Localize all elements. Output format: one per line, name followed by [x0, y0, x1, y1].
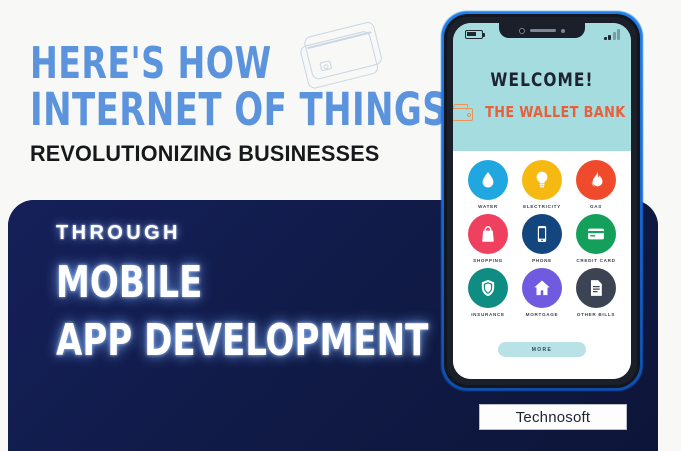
- app-tile-phone[interactable]: PHONE: [515, 214, 569, 263]
- signal-bars-icon: [604, 28, 621, 40]
- lightbulb-icon: [522, 160, 562, 200]
- speaker-grill-icon: [530, 29, 556, 32]
- phone-mockup: WELCOME! THE WALLET BANK WATERELECTRICIT…: [444, 14, 640, 388]
- app-tile-electricity[interactable]: ELECTRICITY: [515, 160, 569, 209]
- smartphone-icon: [522, 214, 562, 254]
- credit-card-icon: [576, 214, 616, 254]
- phone-notch: [499, 23, 585, 38]
- app-tile-label: CREDIT CARD: [576, 258, 615, 263]
- app-tile-label: GAS: [590, 204, 602, 209]
- app-tile-label: ELECTRICITY: [523, 204, 561, 209]
- shopping-bag-icon: [468, 214, 508, 254]
- app-tile-label: PHONE: [532, 258, 552, 263]
- panel-line-1: MOBILE: [56, 261, 434, 305]
- panel-line-2: APP DEVELOPMENT: [56, 319, 434, 363]
- headline-line-3: REVOLUTIONIZING BUSINESSES: [30, 141, 433, 167]
- app-tile-label: WATER: [478, 204, 498, 209]
- app-tile-gas[interactable]: GAS: [569, 160, 623, 209]
- banner-canvas: HERE'S HOW INTERNET OF THINGS IS REVOLUT…: [0, 0, 681, 451]
- app-header: WELCOME! THE WALLET BANK: [453, 23, 631, 151]
- app-tile-label: SHOPPING: [473, 258, 503, 263]
- app-tile-mortgage[interactable]: MORTGAGE: [515, 268, 569, 317]
- sensor-icon: [561, 29, 565, 33]
- wallet-icon: [453, 104, 474, 121]
- flame-icon: [576, 160, 616, 200]
- app-tile-grid: WATERELECTRICITYGASSHOPPINGPHONECREDIT C…: [453, 160, 631, 317]
- panel-text-block: THROUGH MOBILE APP DEVELOPMENT: [56, 222, 496, 363]
- bank-name: THE WALLET BANK: [485, 103, 625, 121]
- app-tile-label: INSURANCE: [471, 312, 505, 317]
- more-button[interactable]: MORE: [498, 342, 586, 357]
- app-tile-label: MORTGAGE: [526, 312, 559, 317]
- headline-block: HERE'S HOW INTERNET OF THINGS IS REVOLUT…: [30, 44, 450, 167]
- app-tile-credit-card[interactable]: CREDIT CARD: [569, 214, 623, 263]
- app-tile-label: OTHER BILLS: [577, 312, 615, 317]
- phone-body: WELCOME! THE WALLET BANK WATERELECTRICIT…: [444, 14, 640, 388]
- app-tile-water[interactable]: WATER: [461, 160, 515, 209]
- home-icon: [522, 268, 562, 308]
- phone-screen: WELCOME! THE WALLET BANK WATERELECTRICIT…: [453, 23, 631, 379]
- headline-line-2: INTERNET OF THINGS IS: [30, 89, 383, 130]
- welcome-title: WELCOME!: [462, 69, 622, 91]
- battery-icon: [465, 30, 483, 39]
- bank-brand: THE WALLET BANK: [453, 103, 631, 121]
- app-tile-insurance[interactable]: INSURANCE: [461, 268, 515, 317]
- panel-kicker: THROUGH: [56, 222, 496, 245]
- camera-icon: [519, 28, 525, 34]
- app-tile-shopping[interactable]: SHOPPING: [461, 214, 515, 263]
- headline-line-1: HERE'S HOW: [30, 44, 383, 84]
- water-drop-icon: [468, 160, 508, 200]
- app-tile-other-bills[interactable]: OTHER BILLS: [569, 268, 623, 317]
- document-icon: [576, 268, 616, 308]
- technosoft-logo: Technosoft: [479, 404, 627, 430]
- shield-icon: [468, 268, 508, 308]
- app-body: WATERELECTRICITYGASSHOPPINGPHONECREDIT C…: [453, 151, 631, 379]
